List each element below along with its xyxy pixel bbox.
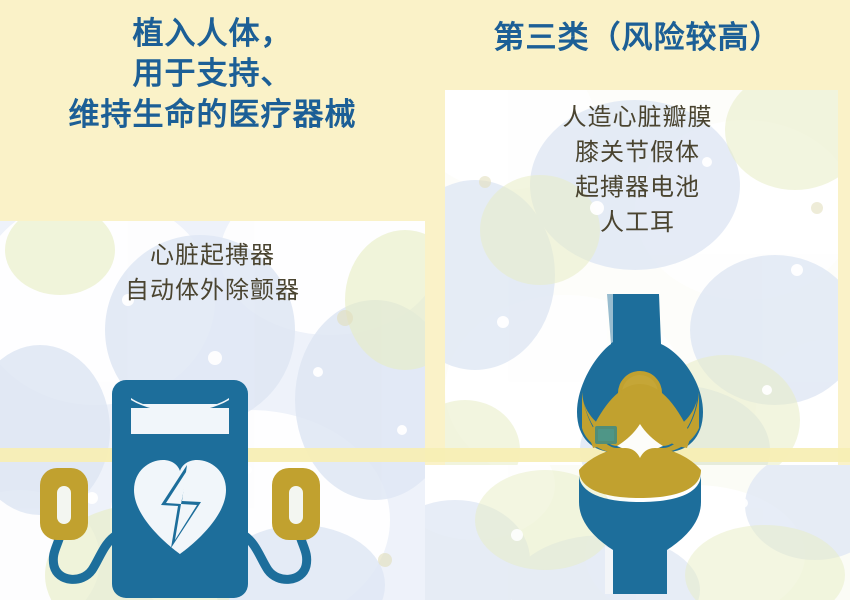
defibrillator-illustration xyxy=(30,370,330,600)
list-item: 膝关节假体 xyxy=(425,135,850,170)
knee-joint-icon xyxy=(555,288,725,600)
right-panel-title: 第三类（风险较高） xyxy=(425,18,850,58)
list-item: 自动体外除颤器 xyxy=(0,273,425,308)
knee-prosthesis-illustration xyxy=(555,288,725,600)
list-item: 心脏起搏器 xyxy=(0,238,425,273)
aed-icon xyxy=(30,370,330,600)
list-item: 起搏器电池 xyxy=(425,170,850,205)
left-panel-title: 植入人体， 用于支持、 维持生命的医疗器械 xyxy=(0,14,425,135)
list-item: 人工耳 xyxy=(425,205,850,240)
list-item: 人造心脏瓣膜 xyxy=(425,100,850,135)
electrode-pad-right xyxy=(272,468,320,540)
electrode-pad-left xyxy=(40,468,88,540)
implant-marker-chip xyxy=(595,426,617,444)
left-panel-item-list: 心脏起搏器 自动体外除颤器 xyxy=(0,238,425,308)
infographic-canvas: 植入人体， 用于支持、 维持生命的医疗器械 第三类（风险较高） 心脏起搏器 自动… xyxy=(0,0,850,600)
right-panel-item-list: 人造心脏瓣膜 膝关节假体 起搏器电池 人工耳 xyxy=(425,100,850,240)
